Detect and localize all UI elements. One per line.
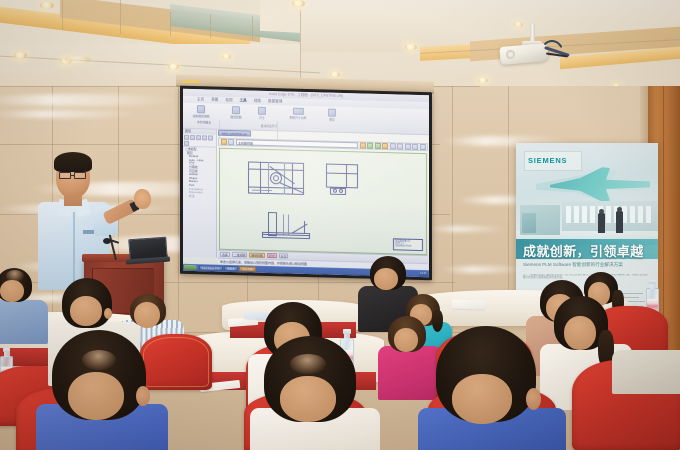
attendee-front-blue — [36, 330, 168, 450]
downlight — [40, 2, 54, 9]
grid-icon[interactable] — [397, 143, 403, 149]
layers-tree[interactable]: 二维模型 图层 Default Auto - Hide 尺寸 分隔线 可见线 H… — [183, 147, 216, 199]
annotation-icon[interactable] — [293, 108, 304, 115]
layer-visibility-icon[interactable] — [382, 143, 388, 149]
title-block: SFZ零件图 A3 比例 1:1 SIEMENS PLM — [393, 238, 423, 251]
pan-icon[interactable] — [221, 139, 227, 145]
ribbon-cmd-1: 绘制图纸视图 — [193, 114, 210, 118]
new-layer-icon[interactable] — [184, 135, 189, 140]
attendee-head — [68, 372, 124, 420]
downlight — [222, 54, 231, 59]
presenter-glasses-icon-right — [74, 172, 86, 179]
presenter-hand — [134, 189, 151, 209]
cad-application[interactable]: Solid Edge ST5 - 工程图 - [SFZ_CASTING.dft]… — [183, 89, 429, 277]
banner-person-2 — [616, 211, 623, 233]
attendee-ear — [526, 388, 541, 410]
downlight — [168, 64, 179, 70]
drawing-view-icon[interactable] — [232, 106, 240, 114]
attendee-head — [374, 268, 398, 290]
tree-node-12[interactable]: 标注 — [185, 195, 216, 199]
hide-layer-icon[interactable] — [202, 135, 207, 140]
attendee-head — [280, 376, 336, 422]
presenter-glasses-icon — [59, 172, 71, 179]
attendee-head — [564, 316, 596, 350]
tab-sketch[interactable]: 草图 — [211, 98, 218, 103]
downlight — [514, 22, 523, 27]
attendee-front-white — [250, 336, 380, 450]
banner-subline: Siemens PLM Software 智能创新的行业解决方案 — [523, 262, 623, 268]
banner-person-1 — [598, 213, 605, 233]
banner-machine-2 — [522, 213, 536, 233]
bottle-cap — [3, 348, 10, 352]
attendee-head — [0, 280, 24, 302]
rotate-icon[interactable] — [228, 139, 234, 145]
section-icon[interactable] — [375, 143, 381, 149]
layers-panel-toolbar[interactable] — [183, 134, 216, 148]
show-layer-icon[interactable] — [196, 135, 201, 140]
dimension-icon[interactable] — [258, 107, 266, 115]
attendee-gray — [612, 326, 680, 386]
status-chip-0[interactable]: 选择 — [220, 252, 230, 257]
move-layer-icon[interactable] — [184, 141, 189, 146]
downlight — [405, 44, 417, 50]
banner-person-1-head — [599, 209, 604, 214]
taskbar-item-1[interactable]: 资料夹 — [224, 266, 238, 271]
downlight — [64, 56, 92, 63]
delete-layer-icon[interactable] — [190, 135, 195, 140]
attendee-ear — [136, 386, 150, 406]
tab-tools[interactable]: 工具 — [240, 98, 247, 103]
shade-icon[interactable] — [367, 143, 373, 149]
attendee-crown-whorl — [82, 350, 116, 370]
tab-home[interactable]: 主页 — [197, 97, 204, 102]
status-chip-2[interactable]: 图纸视图 — [249, 253, 265, 258]
taskbar-item-0[interactable]: Solid Edge ST5 — [199, 265, 223, 271]
lock-layer-icon[interactable] — [208, 135, 213, 140]
taskbar-item-2[interactable]: 演示文稿 — [239, 266, 255, 271]
ribbon-cmd-0[interactable]: 自动标注尺寸 — [261, 124, 278, 128]
downlight — [292, 0, 305, 7]
print-icon[interactable] — [390, 143, 396, 149]
ribbon-group-label-4: 图层 — [329, 118, 335, 122]
handout-paper-4 — [452, 299, 486, 309]
fit-icon[interactable] — [412, 144, 418, 150]
top-view[interactable] — [262, 210, 318, 243]
attendee-head — [70, 296, 102, 326]
attendee-head — [394, 328, 418, 352]
banner-headline: 成就创新，引领卓越 — [523, 241, 644, 260]
attendee-shirt — [612, 350, 680, 394]
downlight — [478, 78, 488, 83]
siemens-logo: SIEMENS — [528, 156, 567, 165]
layers-icon[interactable] — [328, 109, 336, 117]
select-icon[interactable] — [197, 105, 205, 113]
conference-room-photo: Solid Edge ST5 - 工程图 - [SFZ_CASTING.dft]… — [0, 0, 680, 450]
close-icon[interactable] — [420, 144, 426, 150]
attendee-blue-shirt-right — [418, 326, 566, 450]
presenter-hair — [54, 152, 92, 172]
drawing-sheet[interactable]: SFZ零件图 A3 比例 1:1 SIEMENS PLM — [219, 148, 427, 255]
view-select[interactable]: 主视图视图 — [236, 139, 359, 148]
microphone-head — [103, 238, 111, 244]
ribbon-group-label-2: 尺寸 — [259, 116, 265, 120]
snap-icon[interactable] — [405, 144, 411, 150]
downlight — [14, 52, 27, 59]
attendee-head — [452, 374, 512, 424]
tab-inspect[interactable]: 检视 — [225, 98, 232, 103]
status-chip-3[interactable]: 尺寸 — [267, 253, 277, 258]
attendee-crown-whorl — [290, 354, 326, 374]
banner-person-2-head — [617, 207, 622, 212]
front-section-view[interactable] — [248, 161, 304, 198]
attendee-ear — [104, 308, 112, 319]
title-block-line3: SIEMENS PLM — [395, 245, 421, 248]
document-tab[interactable]: SFZ_CASTING.dft — [218, 130, 251, 137]
cad-layers-panel[interactable]: 图层 二维模型 图层 Default Auto - Hide 尺寸 分隔线 — [183, 129, 217, 258]
status-chip-4[interactable]: 标注 — [279, 253, 289, 258]
start-button[interactable] — [184, 265, 197, 271]
ribbon-cmd-2[interactable]: 零件明细表 — [197, 120, 211, 124]
status-chip-1[interactable]: 二维视图 — [232, 252, 248, 257]
tab-data-management[interactable]: 数据管理 — [268, 99, 282, 104]
tab-view[interactable]: 视图 — [254, 99, 261, 104]
zoom-icon[interactable] — [360, 142, 366, 148]
presenter-shirt-placket — [73, 212, 75, 282]
projection-screen[interactable]: Solid Edge ST5 - 工程图 - [SFZ_CASTING.dft]… — [183, 89, 429, 277]
attendee-far-left — [0, 268, 48, 338]
banner-building — [562, 201, 658, 235]
ribbon-cmd-3: 图纸尺寸向导 — [290, 116, 307, 120]
presenter-glasses-bridge — [71, 175, 74, 176]
presenter-shirt-logo — [83, 230, 94, 234]
right-side-view[interactable] — [326, 164, 362, 201]
valance-label — [182, 80, 200, 83]
downlight — [330, 72, 340, 77]
bottle-cap — [649, 280, 656, 284]
ribbon-group-label-1: 图纸视图 — [230, 115, 241, 119]
